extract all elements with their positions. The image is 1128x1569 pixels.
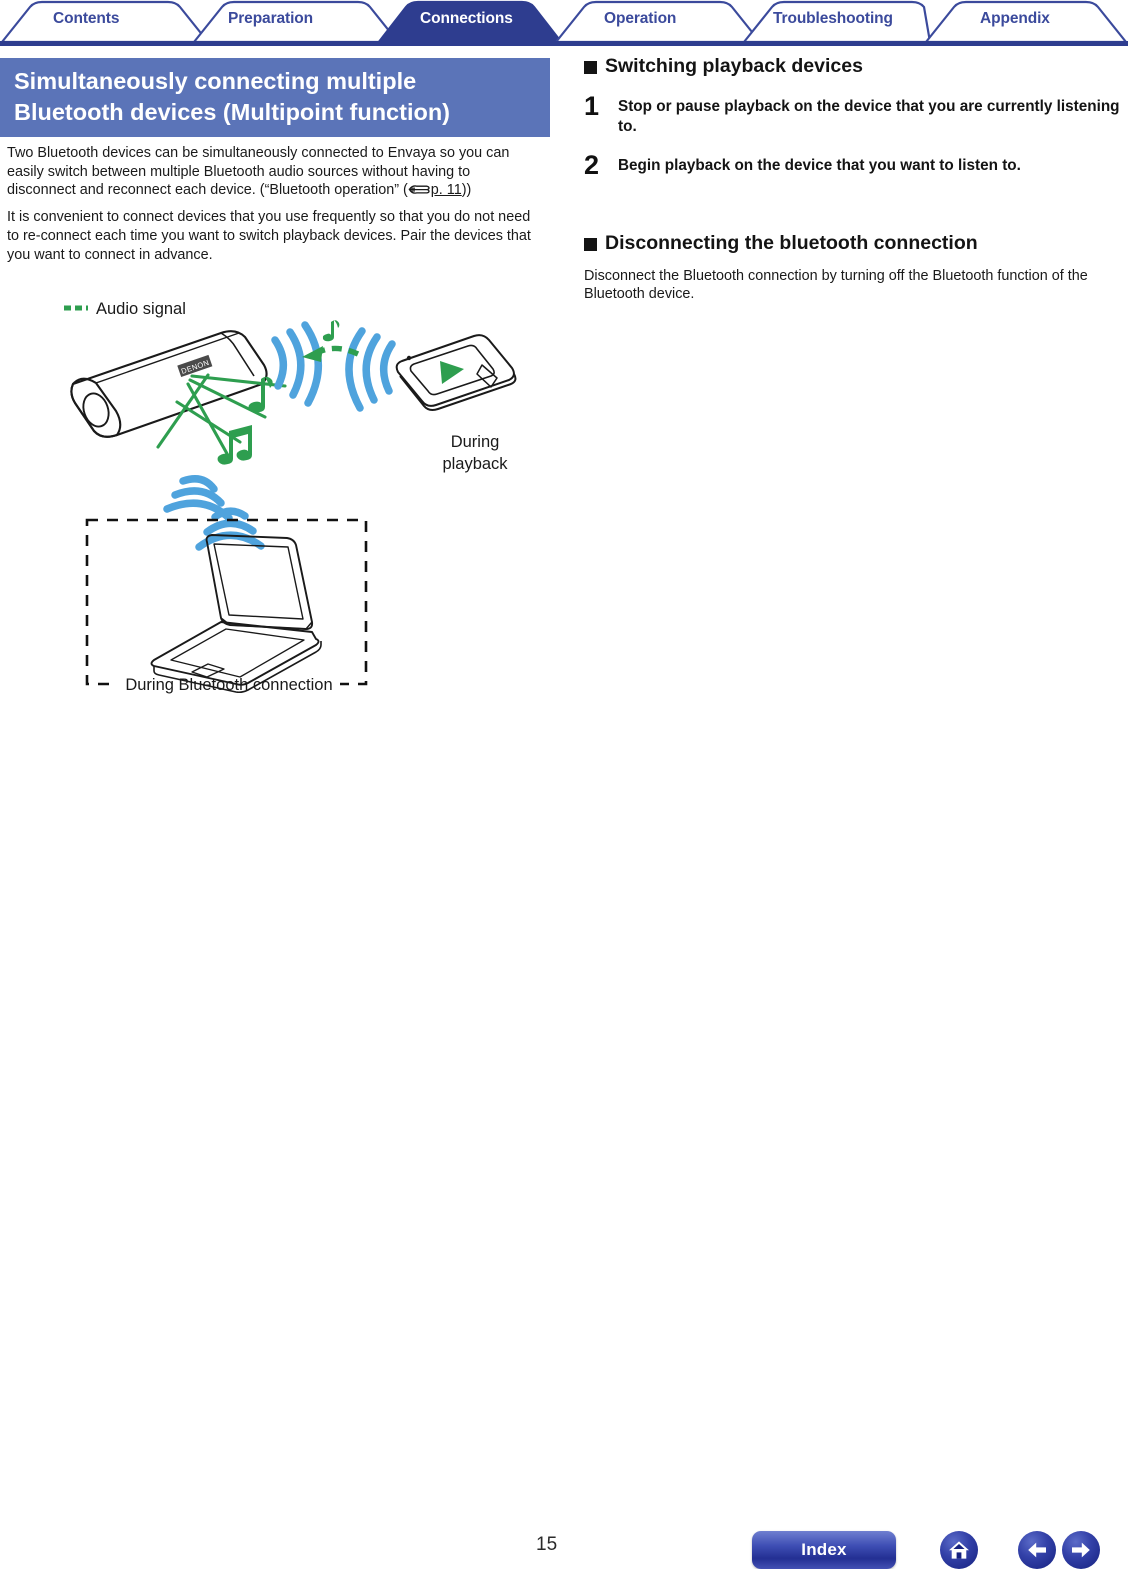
- step-number-2: 2: [584, 153, 618, 178]
- multipoint-diagram: Audio signal DENON: [40, 292, 550, 712]
- home-icon: [947, 1538, 971, 1562]
- section-body-disconnecting: Disconnect the Bluetooth connection by t…: [584, 267, 1128, 304]
- footer-bar: 15 Index: [0, 762, 1128, 812]
- speaker-brand-badge: DENON: [177, 355, 212, 377]
- step-item-1: 1 Stop or pause playback on the device t…: [584, 94, 1128, 137]
- section-heading-disconnecting: Disconnecting the bluetooth connection: [584, 232, 1128, 255]
- xref-page-11[interactable]: p. 11: [431, 182, 462, 198]
- tab-bar-underline: [0, 41, 1128, 46]
- tab-label-preparation[interactable]: Preparation: [228, 10, 313, 28]
- step-item-2: 2 Begin playback on the device that you …: [584, 153, 1128, 178]
- left-column: Simultaneously connecting multiple Bluet…: [0, 58, 550, 264]
- page-title-line1: Simultaneously connecting multiple: [14, 66, 536, 97]
- step-text-2: Begin playback on the device that you wa…: [618, 153, 1021, 176]
- section-switching-playback: Switching playback devices 1 Stop or pau…: [584, 55, 1128, 178]
- bullet-square-icon: [584, 61, 597, 74]
- step-text-1: Stop or pause playback on the device tha…: [618, 94, 1128, 137]
- tab-label-contents[interactable]: Contents: [53, 10, 119, 28]
- music-note-icon-small: [323, 320, 340, 341]
- section-heading-disconnecting-text: Disconnecting the bluetooth connection: [605, 232, 978, 255]
- index-button-label: Index: [801, 1540, 846, 1560]
- phone-label-line1: During: [451, 433, 500, 451]
- tab-label-appendix[interactable]: Appendix: [980, 10, 1050, 28]
- tab-label-operation[interactable]: Operation: [604, 10, 676, 28]
- laptop-icon: [152, 535, 322, 692]
- index-button[interactable]: Index: [752, 1531, 896, 1569]
- legend-label: Audio signal: [96, 300, 186, 318]
- tab-bar: Contents Preparation Connections Operati…: [0, 0, 1128, 45]
- diagram-svg: Audio signal DENON: [40, 292, 550, 712]
- tab-bar-shapes: [0, 0, 1128, 46]
- tab-label-connections[interactable]: Connections: [420, 10, 513, 28]
- page-number: 15: [536, 1534, 557, 1556]
- intro-paragraph-1: Two Bluetooth devices can be simultaneou…: [7, 144, 536, 202]
- section-heading-switching: Switching playback devices: [584, 55, 1128, 78]
- laptop-box-label: During Bluetooth connection: [125, 676, 332, 694]
- page-title-line2: Bluetooth devices (Multipoint function): [14, 97, 536, 128]
- next-button[interactable]: [1062, 1531, 1100, 1569]
- audio-signal-lines: [158, 375, 285, 459]
- bluetooth-speaker-icon: [71, 331, 266, 437]
- tab-label-troubleshooting[interactable]: Troubleshooting: [773, 10, 893, 28]
- step-number-1: 1: [584, 94, 618, 119]
- section-disconnecting: Disconnecting the bluetooth connection D…: [584, 232, 1128, 304]
- section-heading-switching-text: Switching playback devices: [605, 55, 863, 78]
- bluetooth-wave-icon-phone: [349, 331, 392, 408]
- intro-paragraph-2: It is convenient to connect devices that…: [7, 208, 536, 264]
- intro-paragraph-1-text-b: )): [462, 182, 472, 198]
- bluetooth-wave-icon-speaker-right: [275, 325, 318, 403]
- phone-label-line2: playback: [442, 455, 508, 473]
- bullet-square-icon: [584, 238, 597, 251]
- home-button[interactable]: [940, 1531, 978, 1569]
- right-column: Switching playback devices 1 Stop or pau…: [584, 55, 1128, 318]
- arrow-right-icon: [1069, 1538, 1093, 1562]
- pointing-hand-icon: [408, 183, 430, 202]
- page-title-banner: Simultaneously connecting multiple Bluet…: [0, 58, 550, 137]
- arrow-left-icon: [1025, 1538, 1049, 1562]
- back-button[interactable]: [1018, 1531, 1056, 1569]
- play-triangle-icon: [440, 361, 464, 384]
